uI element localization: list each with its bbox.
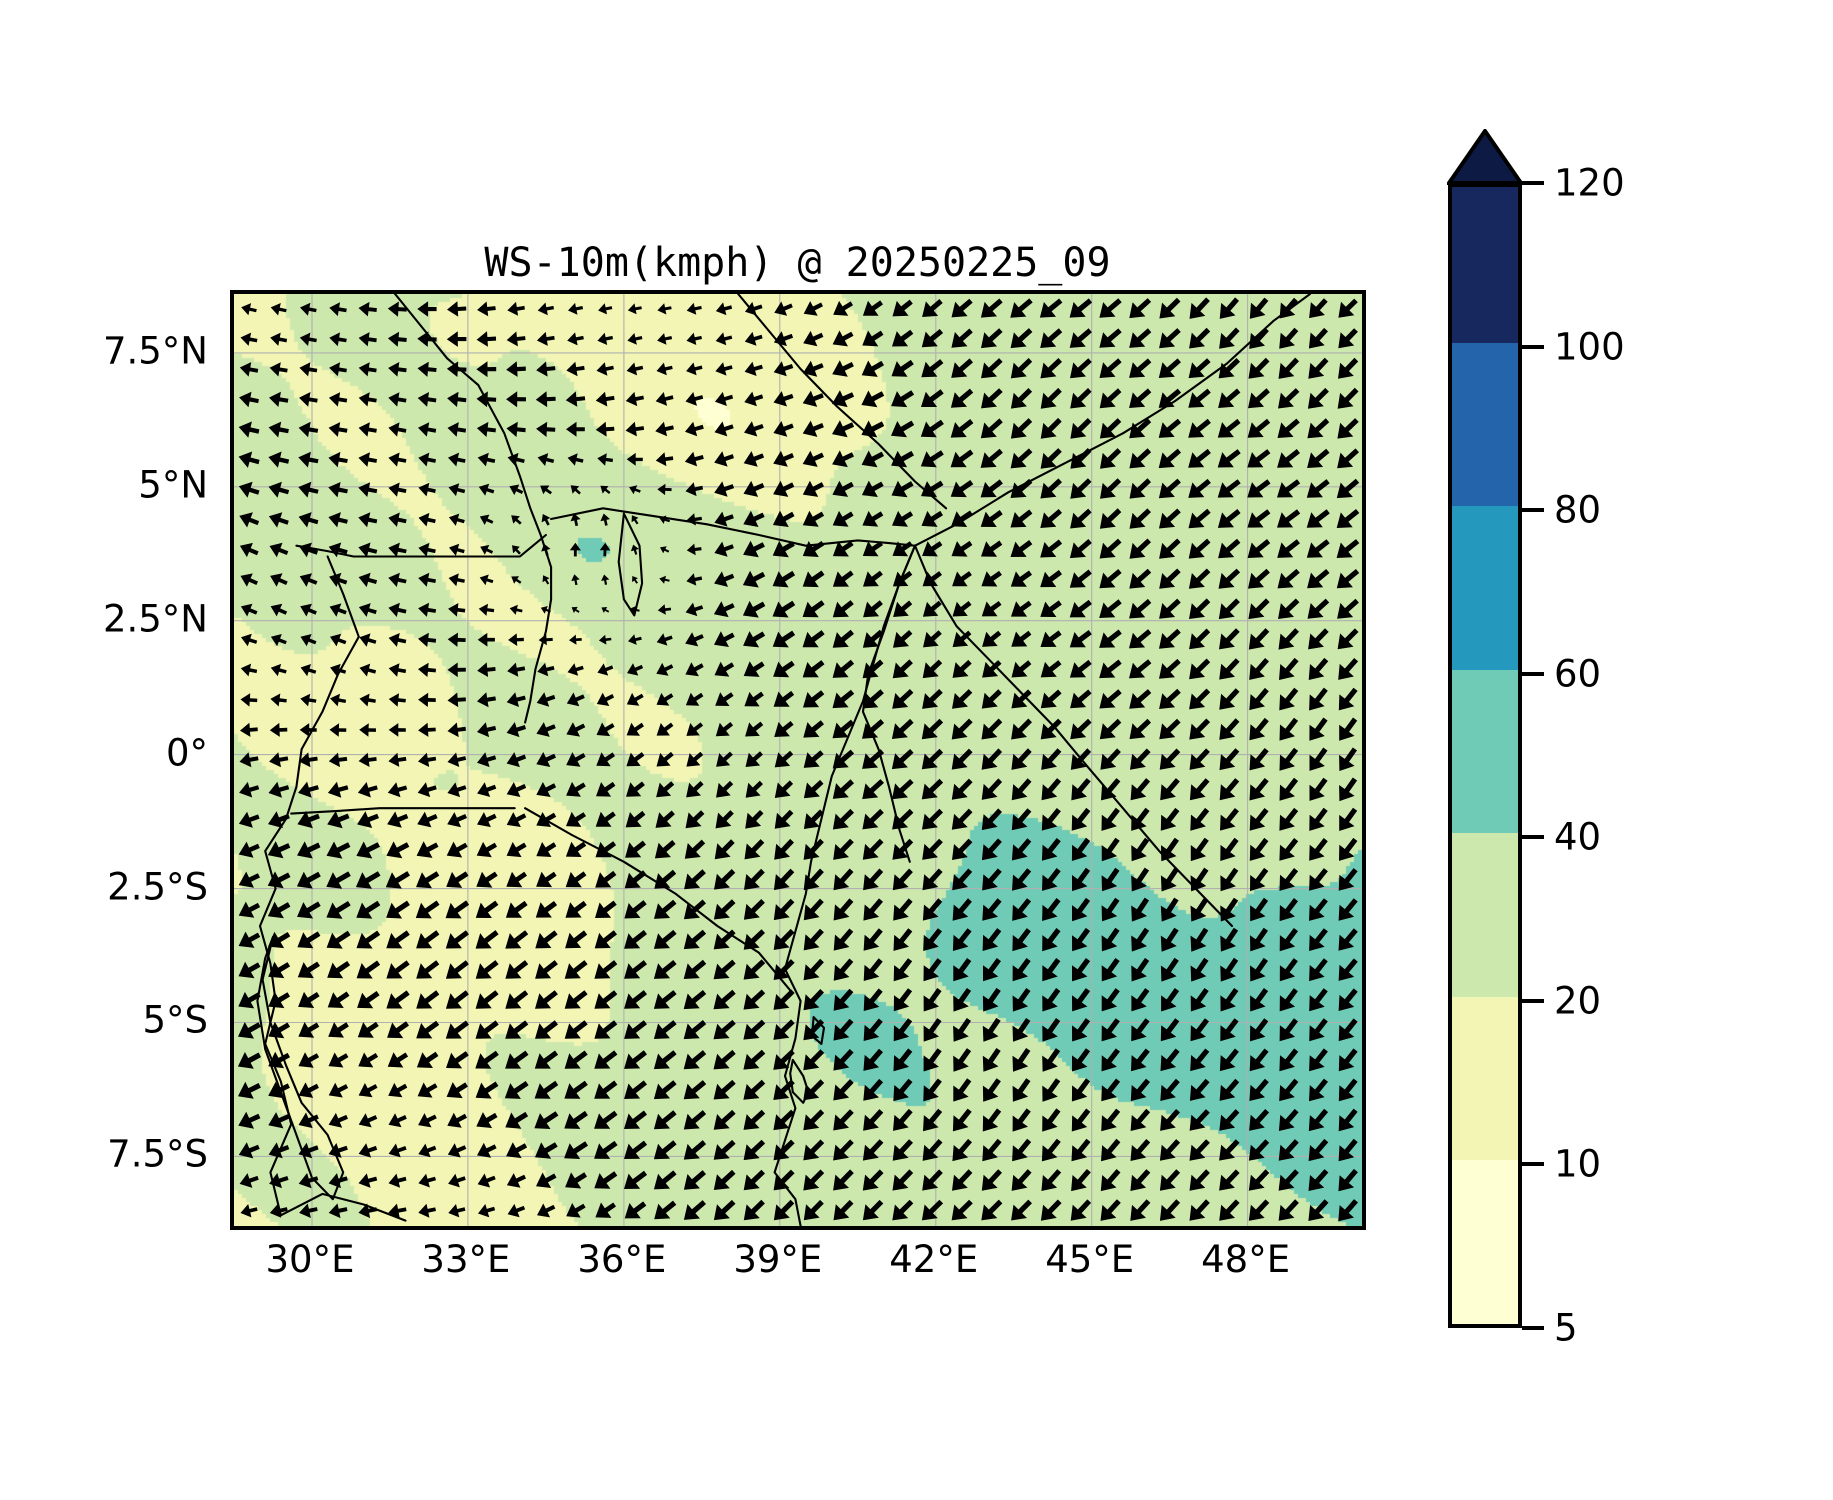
y-ticklabel: 5°N: [138, 463, 208, 506]
colorbar-tickmark: [1522, 345, 1544, 349]
y-ticklabel: 7.5°S: [107, 1133, 208, 1176]
x-ticklabel: 42°E: [889, 1238, 978, 1281]
colorbar-tickmark: [1522, 1162, 1544, 1166]
colorbar-tickmark: [1522, 181, 1544, 185]
colorbar-segment: [1452, 183, 1518, 343]
colorbar-tickmark: [1522, 508, 1544, 512]
colorbar-ticklabel: 40: [1554, 816, 1601, 859]
colorbar-tickmark: [1522, 672, 1544, 676]
x-ticklabel: 36°E: [577, 1238, 666, 1281]
y-ticklabel: 7.5°N: [103, 329, 208, 372]
colorbar-tickmark: [1522, 1326, 1544, 1330]
y-ticklabel: 2.5°N: [103, 597, 208, 640]
colorbar-gradient: [1448, 183, 1522, 1328]
colorbar-ticklabel: 80: [1554, 489, 1601, 532]
wind-vector-arrows: [234, 294, 1362, 1226]
colorbar-ticklabel: 5: [1554, 1307, 1578, 1350]
colorbar-extend-arrow: [1447, 129, 1523, 185]
colorbar[interactable]: 12010080604020105: [1448, 183, 1522, 1328]
y-ticklabel: 2.5°S: [107, 865, 208, 908]
x-ticklabel: 45°E: [1045, 1238, 1134, 1281]
colorbar-segment: [1452, 342, 1518, 506]
x-ticklabel: 48°E: [1201, 1238, 1290, 1281]
colorbar-segment: [1452, 669, 1518, 833]
colorbar-ticklabel: 10: [1554, 1143, 1601, 1186]
colorbar-ticklabel: 120: [1554, 162, 1625, 205]
colorbar-ticklabel: 100: [1554, 325, 1625, 368]
x-ticklabel: 39°E: [733, 1238, 822, 1281]
title-line-primary: WS-10m(kmph) @ 20250225_09: [230, 238, 1365, 288]
colorbar-segment: [1452, 1160, 1518, 1324]
colorbar-ticklabel: 60: [1554, 652, 1601, 695]
colorbar-tickmark: [1522, 835, 1544, 839]
x-ticklabel: 33°E: [421, 1238, 510, 1281]
colorbar-ticklabel: 20: [1554, 979, 1601, 1022]
y-ticklabel: 5°S: [142, 999, 208, 1042]
colorbar-segment: [1452, 996, 1518, 1160]
map-plot-area[interactable]: [230, 290, 1366, 1230]
colorbar-segment: [1452, 833, 1518, 997]
colorbar-tickmark: [1522, 999, 1544, 1003]
colorbar-segment: [1452, 506, 1518, 670]
x-ticklabel: 30°E: [265, 1238, 354, 1281]
y-ticklabel: 0°: [166, 731, 208, 774]
figure-canvas: WS-10m(kmph) @ 20250225_09 Simulation Ti…: [0, 0, 1833, 1500]
